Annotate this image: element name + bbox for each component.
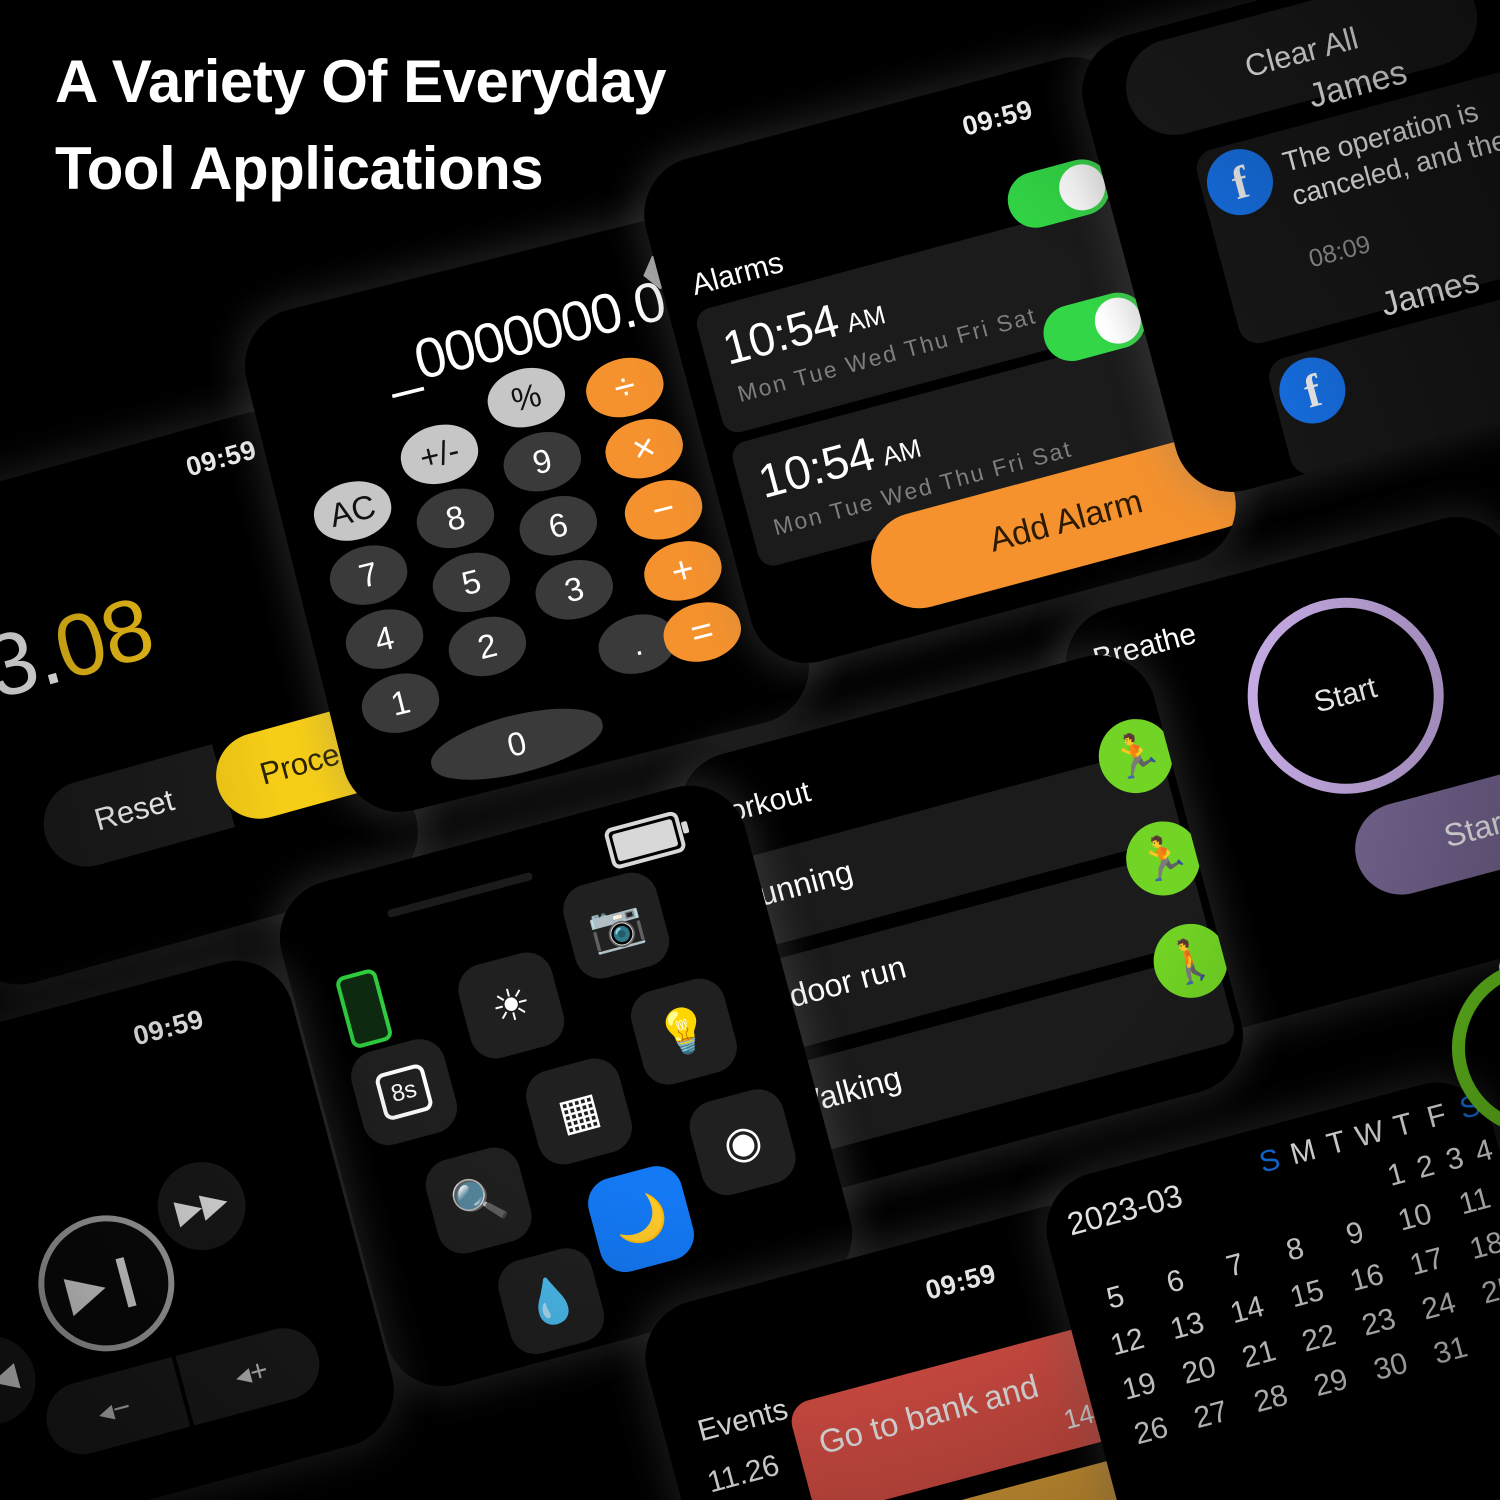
calc-key-5[interactable]: 5 bbox=[427, 545, 517, 620]
calc-key-6[interactable]: 6 bbox=[513, 488, 603, 563]
page-title: A Variety Of Everyday Tool Applications bbox=[55, 38, 666, 212]
reset-button[interactable]: Reset bbox=[34, 744, 235, 876]
calendar-screen: 2023-03 SMTWTFS1234567891011121314151617… bbox=[1033, 1070, 1500, 1500]
status-clock: 09:59 bbox=[922, 1258, 999, 1306]
battery-level-indicator bbox=[334, 967, 394, 1049]
brightness-icon[interactable]: ☀ bbox=[452, 947, 570, 1065]
watch-duration-label: 8s bbox=[374, 1063, 434, 1122]
status-clock: 09:59 bbox=[130, 1004, 207, 1052]
apps-grid-icon[interactable]: ▦ bbox=[520, 1053, 638, 1171]
calc-key-4[interactable]: 4 bbox=[340, 602, 430, 677]
previous-track-icon[interactable]: ◀◀ bbox=[0, 1327, 45, 1435]
calc-key-[interactable]: × bbox=[599, 411, 689, 486]
camera-remote-icon[interactable]: 📷 bbox=[557, 867, 675, 985]
do-not-disturb-icon[interactable]: 🌙 bbox=[582, 1160, 700, 1278]
alarm-ampm: AM bbox=[843, 299, 888, 338]
facebook-icon: f bbox=[1272, 350, 1353, 431]
events-date: 11.26 bbox=[704, 1449, 783, 1500]
calc-key-2[interactable]: 2 bbox=[443, 609, 533, 684]
find-phone-icon[interactable]: 🔍 bbox=[420, 1142, 538, 1260]
calc-key-0[interactable]: 0 bbox=[425, 695, 610, 794]
calc-key-AC[interactable]: AC bbox=[308, 473, 398, 548]
calc-key-8[interactable]: 8 bbox=[411, 481, 501, 556]
status-clock: 09:59 bbox=[959, 94, 1036, 142]
flashlight-icon[interactable]: 💡 bbox=[625, 973, 743, 1091]
calendar-watch-card: 2023-03 SMTWTFS1234567891011121314151617… bbox=[1033, 1070, 1500, 1500]
breathe-start-ring[interactable]: Start bbox=[1226, 576, 1466, 816]
stopwatch-elapsed: 00:23.08 bbox=[0, 576, 163, 764]
calc-key-[interactable]: ÷ bbox=[580, 350, 670, 425]
calc-key-[interactable]: − bbox=[619, 472, 709, 547]
notification-time: 08:09 bbox=[1306, 230, 1374, 274]
calc-key-7[interactable]: 7 bbox=[324, 538, 414, 613]
calc-key-[interactable]: = bbox=[657, 594, 747, 669]
events-title: Events bbox=[694, 1393, 791, 1450]
calc-key-9[interactable]: 9 bbox=[497, 424, 587, 499]
calendar-grid: SMTWTFS123456789101112131415161718192021… bbox=[1056, 1081, 1500, 1461]
camera-icon[interactable]: ◉ bbox=[684, 1083, 802, 1201]
status-clock: 09:59 bbox=[183, 434, 260, 483]
calc-key-[interactable]: + bbox=[638, 533, 728, 608]
alarm-ampm: AM bbox=[879, 433, 924, 472]
calc-key-[interactable]: +/- bbox=[395, 417, 485, 492]
poster-canvas: A Variety Of Everyday Tool Applications … bbox=[0, 0, 1500, 1500]
water-lock-icon[interactable]: 💧 bbox=[492, 1242, 610, 1360]
next-track-icon[interactable]: ▶▶ bbox=[148, 1152, 256, 1260]
facebook-icon: f bbox=[1200, 142, 1281, 223]
event-text: Go to bank and bbox=[815, 1367, 1043, 1462]
watch-duration-icon[interactable]: 8s bbox=[345, 1033, 463, 1151]
calc-key-3[interactable]: 3 bbox=[529, 552, 619, 627]
drag-handle[interactable] bbox=[386, 872, 533, 919]
volume-down-button[interactable]: ◂− bbox=[38, 1357, 190, 1462]
volume-up-button[interactable]: ◂+ bbox=[175, 1320, 327, 1425]
battery-icon bbox=[603, 810, 687, 870]
calc-key-1[interactable]: 1 bbox=[356, 666, 446, 741]
